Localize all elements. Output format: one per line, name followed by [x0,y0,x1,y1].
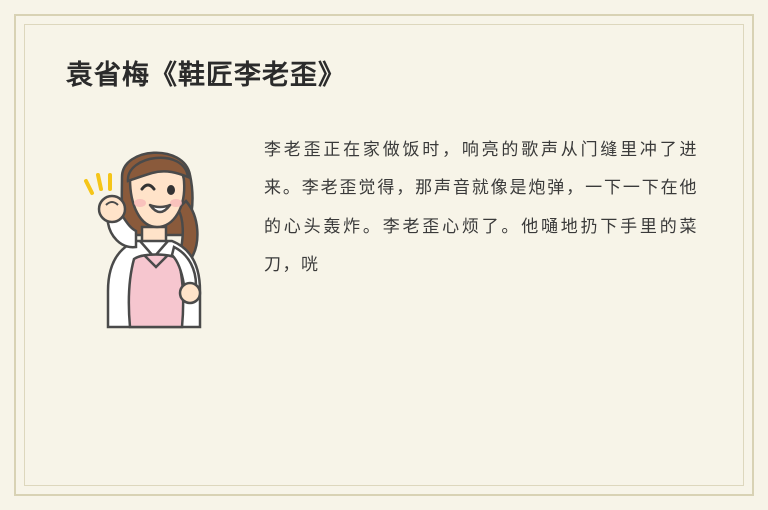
page-title: 袁省梅《鞋匠李老歪》 [66,58,708,93]
cartoon-woman-waving-icon [74,131,234,331]
document-page: 袁省梅《鞋匠李老歪》 [0,0,768,510]
article-text: 李老歪正在家做饭时，响亮的歌声从门缝里冲了进来。李老歪觉得，那声音就像是炮弹，一… [264,131,698,284]
page-content: 袁省梅《鞋匠李老歪》 [24,24,744,486]
article-body-area: 李老歪正在家做饭时，响亮的歌声从门缝里冲了进来。李老歪觉得，那声音就像是炮弹，一… [60,131,708,331]
